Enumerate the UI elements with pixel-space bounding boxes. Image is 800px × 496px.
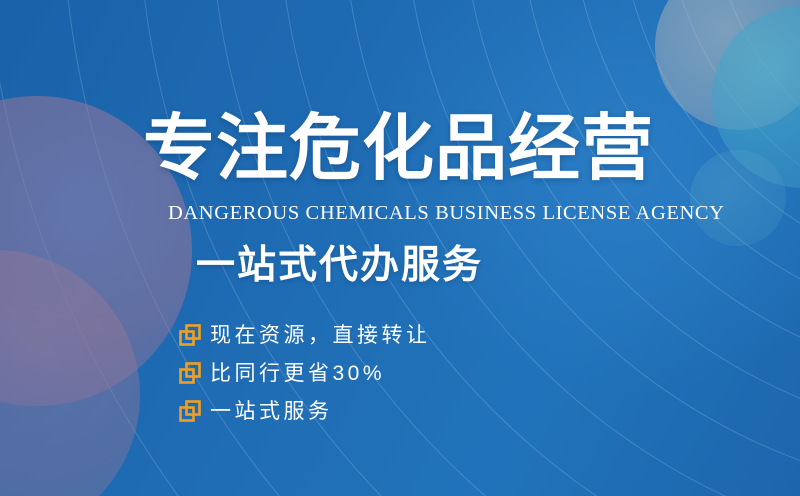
list-item-label: 一站式服务 — [210, 401, 333, 422]
promo-banner: 专注危化品经营 DANGEROUS CHEMICALS BUSINESS LIC… — [0, 0, 800, 496]
banner-content: 专注危化品经营 DANGEROUS CHEMICALS BUSINESS LIC… — [0, 0, 800, 496]
banner-subtitle-english: DANGEROUS CHEMICALS BUSINESS LICENSE AGE… — [168, 203, 725, 224]
banner-feature-list: 现在资源，直接转让 比同行更省30% 一站式 — [179, 316, 431, 430]
list-item: 现在资源，直接转让 — [179, 316, 431, 354]
banner-headline: 专注危化品经营 — [143, 113, 654, 185]
list-item: 一站式服务 — [179, 392, 431, 430]
list-item-label: 现在资源，直接转让 — [210, 325, 431, 346]
list-item: 比同行更省30% — [179, 354, 431, 392]
banner-subtitle-chinese: 一站式代办服务 — [196, 246, 483, 285]
overlapping-squares-icon — [179, 324, 201, 346]
overlapping-squares-icon — [179, 400, 201, 422]
overlapping-squares-icon — [179, 362, 201, 384]
list-item-label: 比同行更省30% — [210, 363, 385, 384]
